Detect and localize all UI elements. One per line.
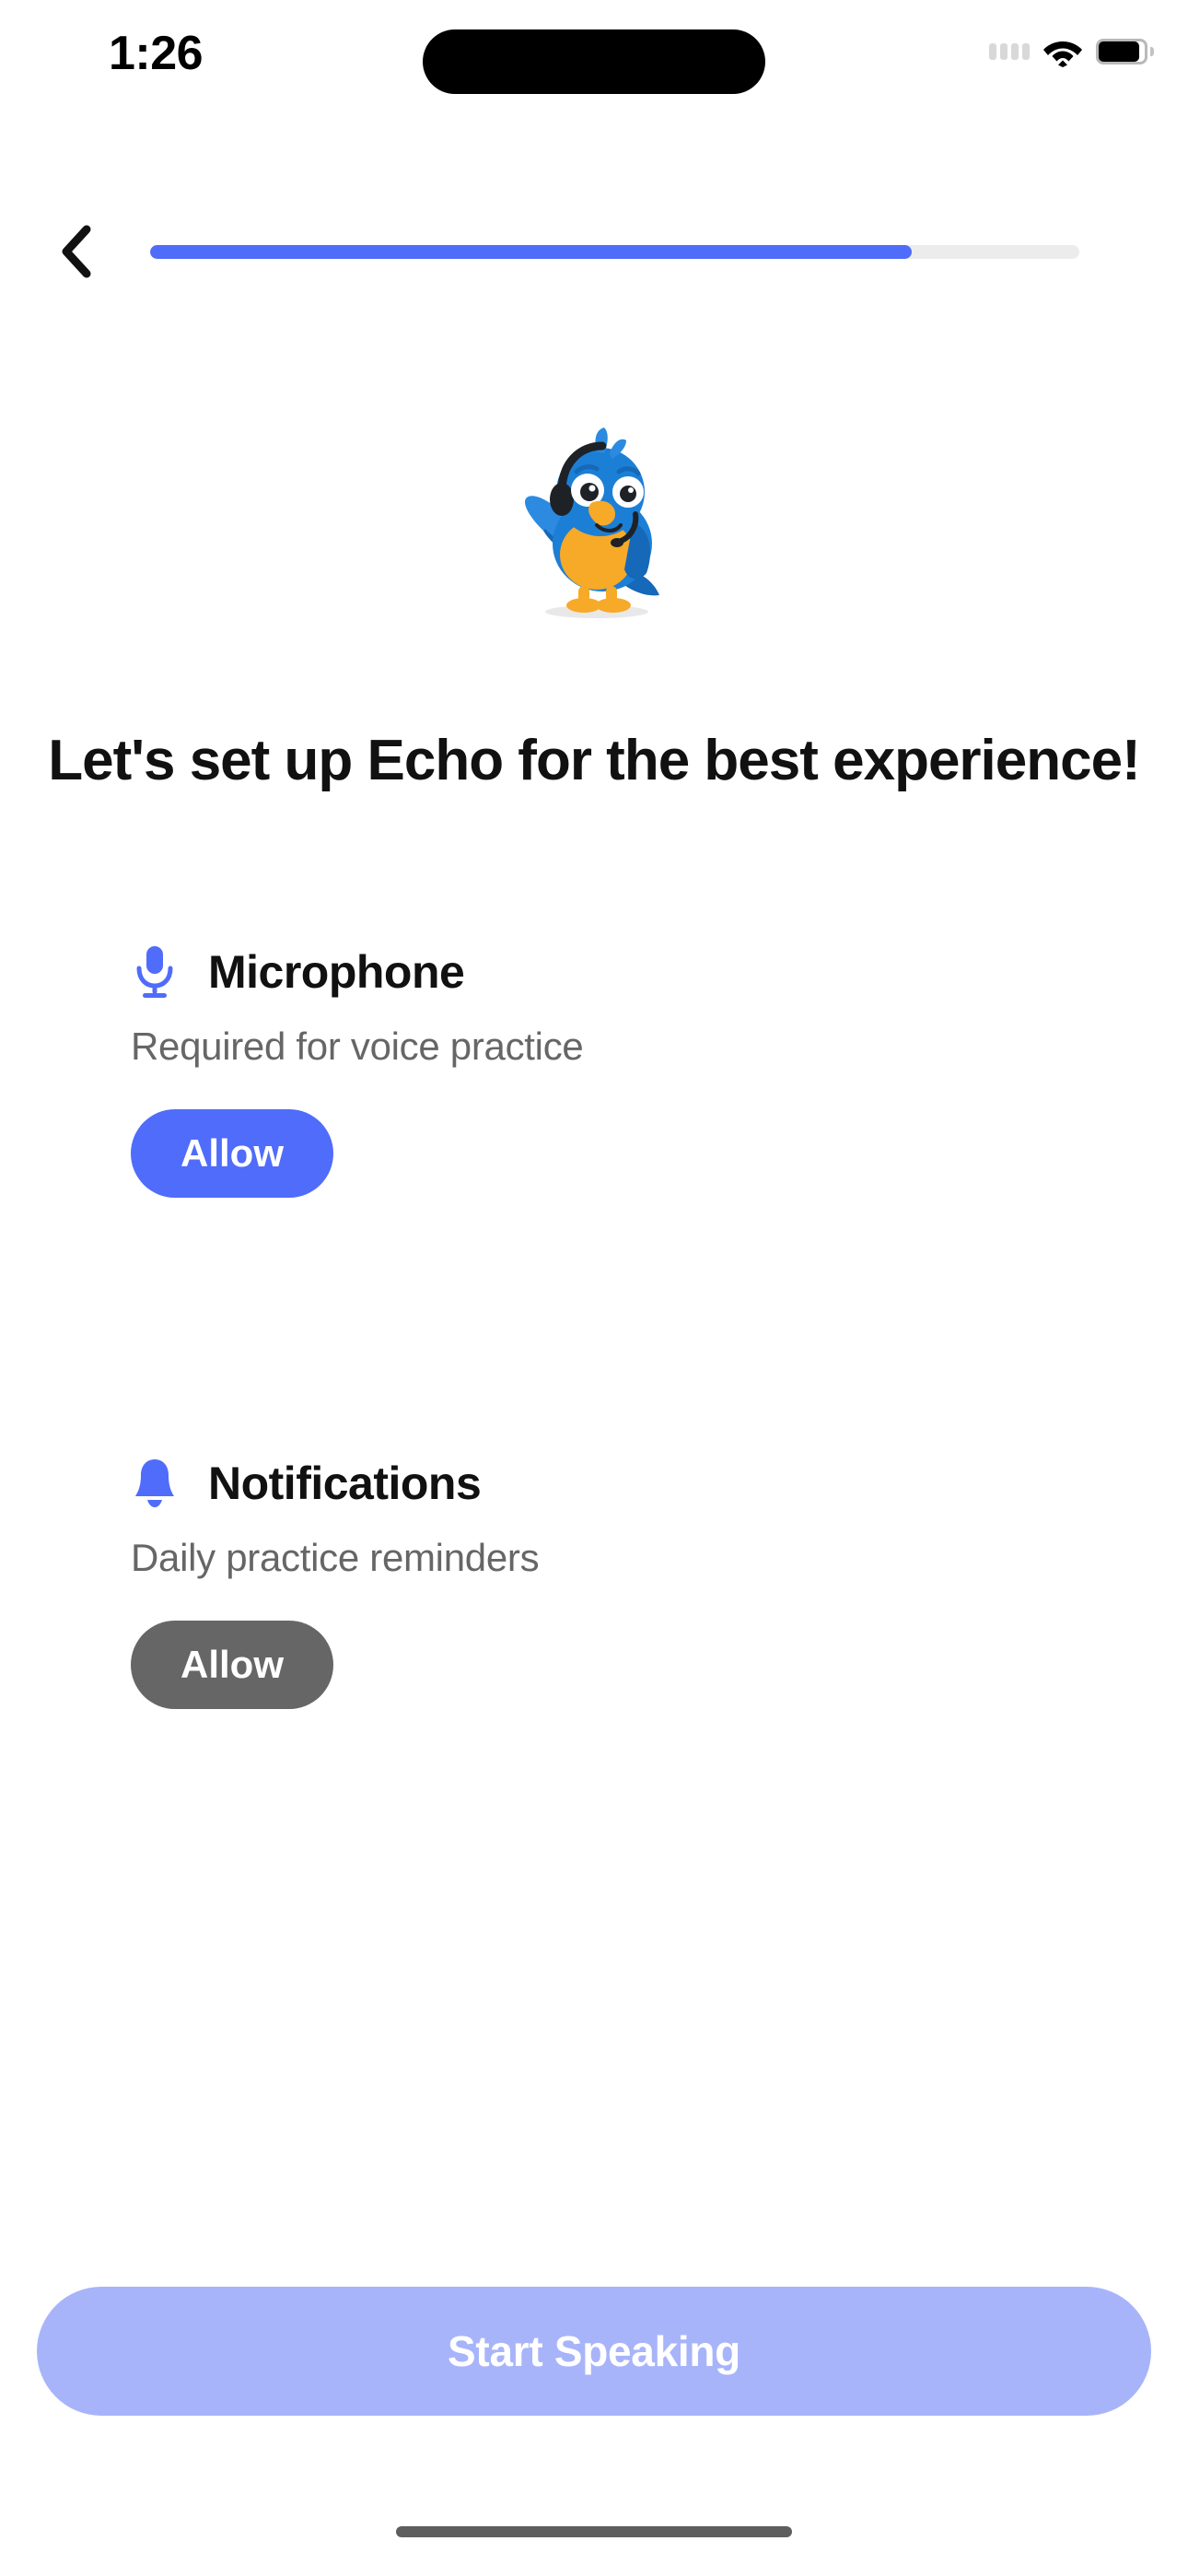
bell-icon <box>131 1454 179 1513</box>
mascot-illustration <box>0 405 1188 636</box>
permission-title: Notifications <box>208 1457 481 1510</box>
permission-header: Notifications <box>131 1451 1052 1516</box>
status-bar-indicators <box>989 26 1147 77</box>
blue-bird-mascot-with-headset-icon <box>488 415 700 626</box>
cellular-dots-icon <box>989 43 1030 60</box>
status-bar: 1:26 <box>0 0 1188 120</box>
permission-item-microphone: Microphone Required for voice practice A… <box>131 940 1052 1198</box>
app-screen: 1:26 <box>0 0 1188 2576</box>
onboarding-progress-bar <box>150 245 1079 259</box>
nav-row <box>0 217 1188 286</box>
allow-notifications-button[interactable]: Allow <box>131 1621 333 1709</box>
dynamic-island <box>423 29 765 94</box>
permission-subtitle: Required for voice practice <box>131 1025 1052 1069</box>
microphone-icon <box>131 943 179 1001</box>
home-indicator <box>396 2526 792 2537</box>
page-title: Let's set up Echo for the best experienc… <box>37 728 1151 793</box>
back-button[interactable] <box>41 217 114 286</box>
chevron-left-icon <box>59 225 96 278</box>
status-bar-time: 1:26 <box>109 26 293 81</box>
start-speaking-button[interactable]: Start Speaking <box>37 2287 1151 2416</box>
permission-title: Microphone <box>208 945 464 999</box>
permission-header: Microphone <box>131 940 1052 1004</box>
battery-full-icon <box>1096 39 1147 64</box>
allow-microphone-button[interactable]: Allow <box>131 1109 333 1198</box>
progress-bar-fill <box>150 245 912 259</box>
permission-subtitle: Daily practice reminders <box>131 1536 1052 1580</box>
permission-item-notifications: Notifications Daily practice reminders A… <box>131 1451 1052 1709</box>
wifi-icon <box>1042 36 1083 67</box>
